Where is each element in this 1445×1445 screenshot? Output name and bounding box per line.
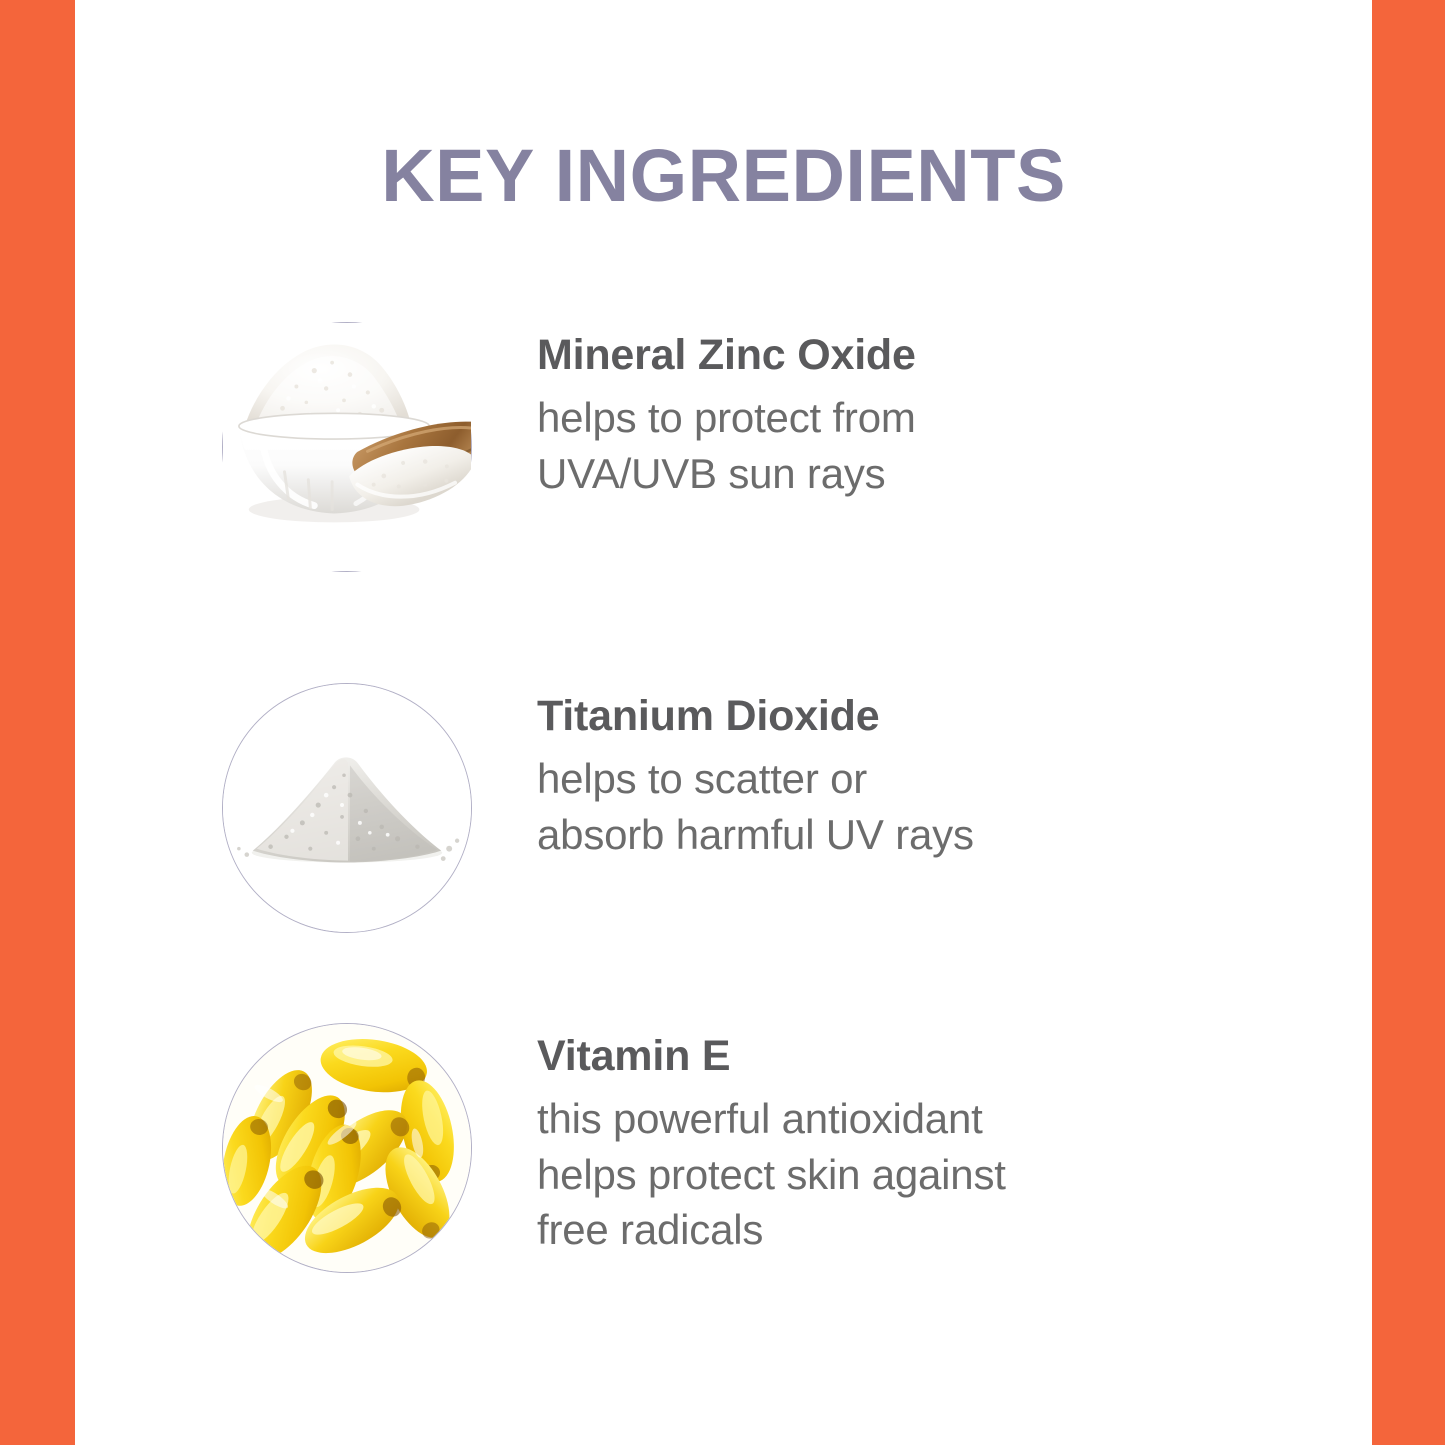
ingredient-description-line: helps to protect from	[537, 390, 1295, 446]
ingredient-description-line: UVA/UVB sun rays	[537, 446, 1295, 502]
ingredient-image-vitamin-e-capsules	[222, 1023, 472, 1273]
ingredient-description-line: helps protect skin against	[537, 1147, 1295, 1203]
ingredient-name: Mineral Zinc Oxide	[537, 330, 1295, 381]
ingredient-image-titanium-dioxide-powder-mound	[222, 683, 472, 933]
titanium-dioxide-powder-mound-icon	[223, 684, 471, 932]
ingredient-description-line: this powerful antioxidant	[537, 1091, 1295, 1147]
ingredient-row-mineral-zinc-oxide: Mineral Zinc Oxide helps to protect from…	[0, 322, 1445, 582]
infographic-page: KEY INGREDIENTS	[0, 0, 1445, 1445]
ingredient-text-mineral-zinc-oxide: Mineral Zinc Oxide helps to protect from…	[537, 330, 1295, 501]
ingredient-row-vitamin-e: Vitamin E this powerful antioxidant help…	[0, 1023, 1445, 1283]
ingredient-text-titanium-dioxide: Titanium Dioxide helps to scatter or abs…	[537, 691, 1295, 862]
page-title: KEY INGREDIENTS	[75, 137, 1372, 215]
zinc-oxide-powder-bowl-icon	[223, 323, 471, 571]
ingredient-description-line: free radicals	[537, 1202, 1295, 1258]
ingredient-text-vitamin-e: Vitamin E this powerful antioxidant help…	[537, 1031, 1295, 1258]
ingredient-row-titanium-dioxide: Titanium Dioxide helps to scatter or abs…	[0, 683, 1445, 943]
ingredient-image-zinc-oxide-powder-bowl	[222, 322, 472, 572]
ingredient-name: Titanium Dioxide	[537, 691, 1295, 742]
ingredient-description-line: absorb harmful UV rays	[537, 807, 1295, 863]
ingredient-name: Vitamin E	[537, 1031, 1295, 1082]
ingredient-description-line: helps to scatter or	[537, 751, 1295, 807]
vitamin-e-softgel-capsules-icon	[223, 1024, 471, 1272]
